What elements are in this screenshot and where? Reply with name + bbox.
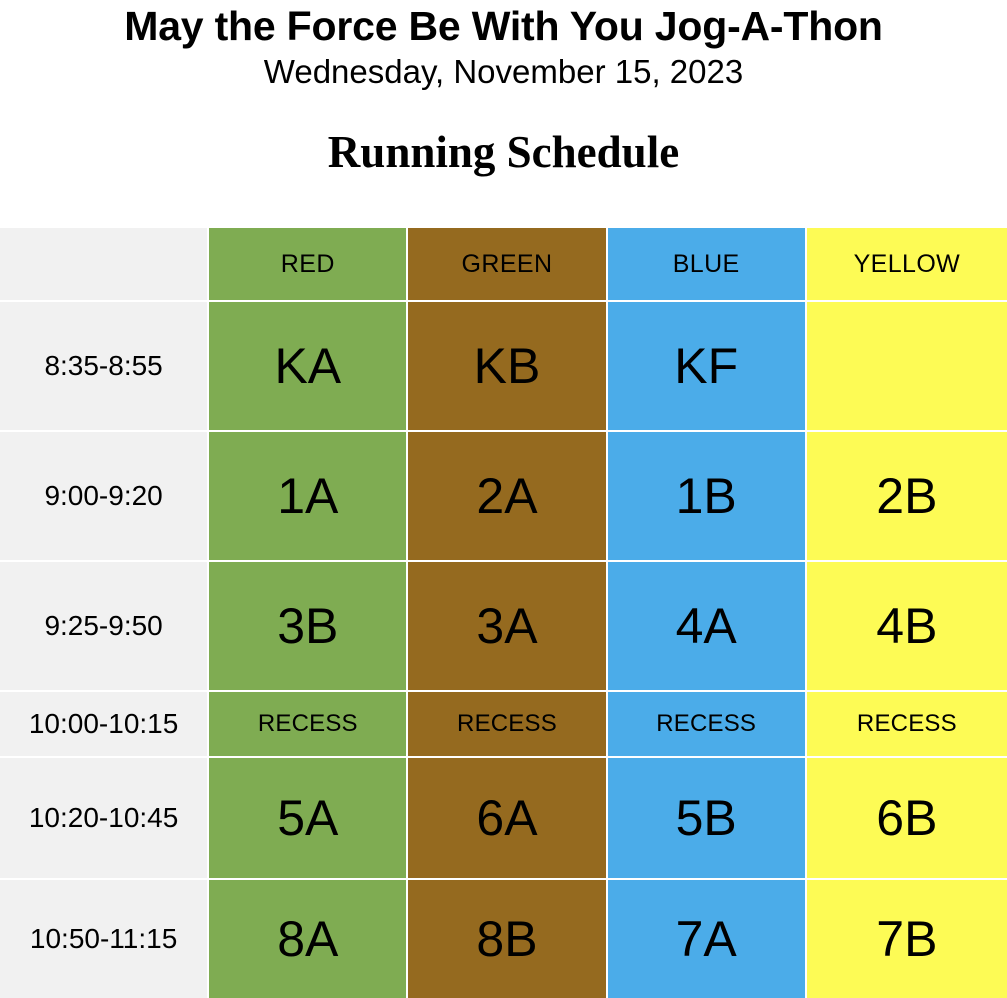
table-corner-cell [0, 228, 209, 302]
cell-blue: 4A [608, 562, 807, 692]
table-row: 9:00-9:20 1A 2A 1B 2B [0, 432, 1007, 562]
schedule-page: May the Force Be With You Jog-A-Thon Wed… [0, 0, 1007, 986]
event-date: Wednesday, November 15, 2023 [0, 50, 1007, 93]
section-title: Running Schedule [0, 93, 1007, 178]
time-slot-label: 10:20-10:45 [0, 758, 209, 880]
cell-green: 8B [408, 880, 607, 998]
cell-green: RECESS [408, 692, 607, 758]
cell-yellow: 7B [807, 880, 1007, 998]
cell-blue: KF [608, 302, 807, 432]
table-header-row: RED GREEN BLUE YELLOW [0, 228, 1007, 302]
cell-red: 8A [209, 880, 408, 998]
time-slot-label: 9:25-9:50 [0, 562, 209, 692]
cell-red: 3B [209, 562, 408, 692]
column-header-red: RED [209, 228, 408, 302]
running-schedule-table: RED GREEN BLUE YELLOW 8:35-8:55 KA KB KF… [0, 228, 1007, 998]
cell-yellow: 2B [807, 432, 1007, 562]
cell-green: 6A [408, 758, 607, 880]
time-slot-label: 10:00-10:15 [0, 692, 209, 758]
cell-green: 3A [408, 562, 607, 692]
cell-blue: RECESS [608, 692, 807, 758]
table-row-recess: 10:00-10:15 RECESS RECESS RECESS RECESS [0, 692, 1007, 758]
column-header-yellow: YELLOW [807, 228, 1007, 302]
cell-green: 2A [408, 432, 607, 562]
cell-blue: 5B [608, 758, 807, 880]
cell-yellow: 6B [807, 758, 1007, 880]
table-row: 8:35-8:55 KA KB KF [0, 302, 1007, 432]
cell-red: 5A [209, 758, 408, 880]
column-header-green: GREEN [408, 228, 607, 302]
table-row: 10:20-10:45 5A 6A 5B 6B [0, 758, 1007, 880]
page-title: May the Force Be With You Jog-A-Thon [0, 0, 1007, 50]
time-slot-label: 10:50-11:15 [0, 880, 209, 998]
table-row: 9:25-9:50 3B 3A 4A 4B [0, 562, 1007, 692]
cell-yellow [807, 302, 1007, 432]
cell-yellow: RECESS [807, 692, 1007, 758]
cell-blue: 1B [608, 432, 807, 562]
column-header-blue: BLUE [608, 228, 807, 302]
cell-red: KA [209, 302, 408, 432]
cell-blue: 7A [608, 880, 807, 998]
cell-red: 1A [209, 432, 408, 562]
cell-red: RECESS [209, 692, 408, 758]
table-row: 10:50-11:15 8A 8B 7A 7B [0, 880, 1007, 998]
time-slot-label: 9:00-9:20 [0, 432, 209, 562]
time-slot-label: 8:35-8:55 [0, 302, 209, 432]
cell-yellow: 4B [807, 562, 1007, 692]
page-header: May the Force Be With You Jog-A-Thon Wed… [0, 0, 1007, 178]
cell-green: KB [408, 302, 607, 432]
